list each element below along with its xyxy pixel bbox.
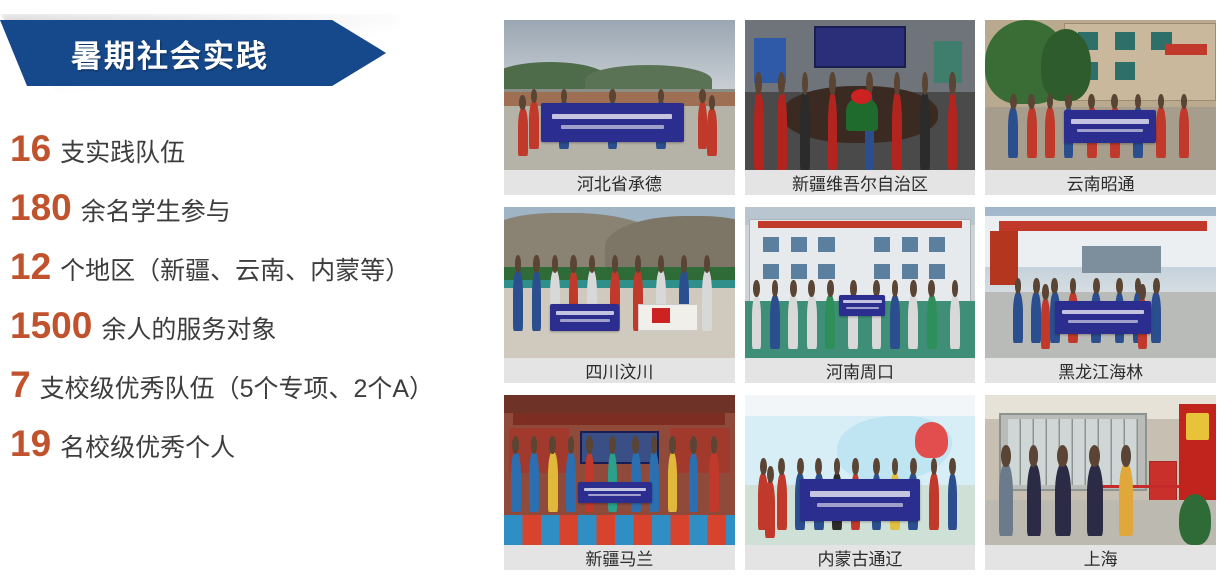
photo-image-xinjiang-malan [504,395,735,545]
photo-cell[interactable]: 新疆维吾尔自治区 [745,20,976,195]
left-panel: 暑期社会实践 16 支实践队伍 180 余名学生参与 12 个地区（新疆、云南、… [0,0,500,577]
stat-label: 余人的服务对象 [101,318,276,343]
stat-row: 16 支实践队伍 [10,130,490,189]
photo-image-sichuan-wenchuan [504,207,735,357]
photo-image-hebei-chengde [504,20,735,170]
photo-cell[interactable]: 云南昭通 [985,20,1216,195]
photo-cell[interactable]: 上海 [985,395,1216,570]
photo-caption: 黑龙江海林 [985,358,1216,383]
photo-cell[interactable]: 四川汶川 [504,207,735,382]
photo-caption: 内蒙古通辽 [745,545,976,570]
stat-number: 19 [10,425,51,462]
statistics-list: 16 支实践队伍 180 余名学生参与 12 个地区（新疆、云南、内蒙等） 15… [10,130,490,484]
photo-cell[interactable]: 新疆马兰 [504,395,735,570]
photo-image-xinjiang-uygur [745,20,976,170]
photo-cell[interactable]: 内蒙古通辽 [745,395,976,570]
photo-grid: 河北省承德 [504,20,1216,570]
stat-row: 19 名校级优秀个人 [10,425,490,484]
banner-arrow: 暑期社会实践 [0,20,386,86]
slide-root: 暑期社会实践 16 支实践队伍 180 余名学生参与 12 个地区（新疆、云南、… [0,0,1219,577]
section-banner: 暑期社会实践 [0,14,400,92]
photo-caption: 上海 [985,545,1216,570]
stat-row: 1500 余人的服务对象 [10,307,490,366]
photo-caption: 四川汶川 [504,358,735,383]
photo-image-heilongjiang-hailin [985,207,1216,357]
photo-image-shanghai [985,395,1216,545]
photo-caption: 河北省承德 [504,170,735,195]
stat-number: 16 [10,130,51,167]
photo-image-neimenggu-tongliao [745,395,976,545]
photo-cell[interactable]: 黑龙江海林 [985,207,1216,382]
photo-caption: 新疆维吾尔自治区 [745,170,976,195]
stat-row: 12 个地区（新疆、云南、内蒙等） [10,248,490,307]
banner-title: 暑期社会实践 [0,20,340,86]
photo-image-yunnan-zhaotong [985,20,1216,170]
stat-label: 支实践队伍 [60,141,185,166]
stat-number: 7 [10,366,31,403]
photo-cell[interactable]: 河南周口 [745,207,976,382]
photo-caption: 新疆马兰 [504,545,735,570]
stat-label: 名校级优秀个人 [60,436,235,461]
stat-number: 12 [10,248,51,285]
stat-row: 7 支校级优秀队伍（5个专项、2个A） [10,366,490,425]
photo-caption: 云南昭通 [985,170,1216,195]
stat-number: 1500 [10,307,92,344]
stat-row: 180 余名学生参与 [10,189,490,248]
photo-caption: 河南周口 [745,358,976,383]
stat-label: 支校级优秀队伍（5个专项、2个A） [40,377,434,402]
photo-cell[interactable]: 河北省承德 [504,20,735,195]
photo-image-henan-zhoukou [745,207,976,357]
stat-number: 180 [10,189,72,226]
stat-label: 余名学生参与 [81,200,231,225]
stat-label: 个地区（新疆、云南、内蒙等） [60,259,410,284]
